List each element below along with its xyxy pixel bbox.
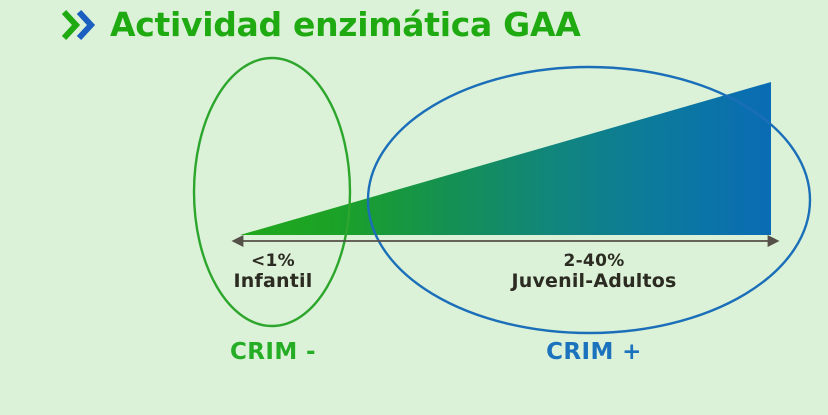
crim-negative-badge: CRIM - [188,341,358,364]
crim-negative-axis-label: <1% Infantil [188,252,358,292]
crim-positive-population: Juvenil-Adultos [483,271,705,292]
crim-positive-axis-label: 2-40% Juvenil-Adultos [483,252,705,292]
slide-canvas: Actividad enzimática GAA <1% Infantil 2-… [0,0,828,415]
title-row: Actividad enzimática GAA [62,8,580,41]
double-chevron-right-icon [62,9,96,41]
page-title: Actividad enzimática GAA [110,8,580,41]
crim-negative-population: Infantil [188,271,358,292]
enzyme-activity-wedge [240,82,771,235]
crim-positive-percent: 2-40% [483,252,705,271]
crim-positive-badge: CRIM + [483,341,705,364]
crim-negative-percent: <1% [188,252,358,271]
